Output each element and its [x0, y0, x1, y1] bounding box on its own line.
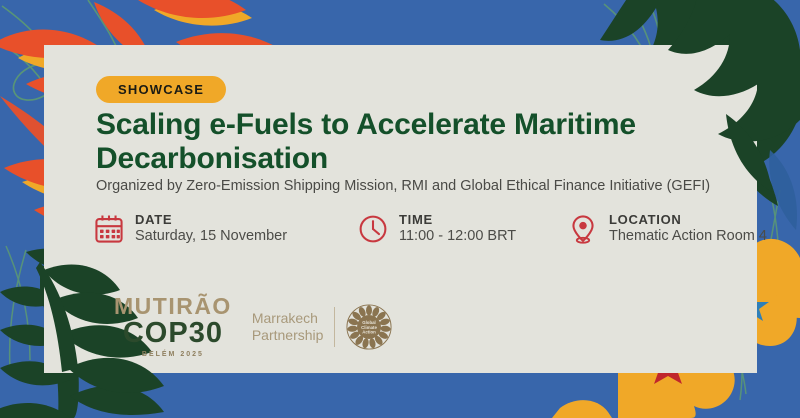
leaf-accent-top-right [769, 150, 797, 230]
marrakech-partnership-logo: Marrakech Partnership [252, 304, 393, 350]
logo-divider [334, 307, 335, 347]
poster-content: SHOWCASE Scaling e-Fuels to Accelerate M… [44, 45, 757, 373]
detail-date-value: Saturday, 15 November [135, 229, 287, 245]
detail-date: DATE Saturday, 15 November [94, 211, 287, 245]
marrakech-partnership-text: Marrakech Partnership [252, 310, 324, 343]
cop30-mutirao-text: MUTIRÃO [114, 295, 232, 318]
organizers-subtitle: Organized by Zero-Emission Shipping Miss… [96, 178, 756, 195]
calendar-icon [94, 213, 124, 245]
flower-bottom-edge [552, 400, 612, 418]
detail-time-label: TIME [399, 213, 516, 226]
detail-time-value: 11:00 - 12:00 BRT [399, 229, 516, 245]
detail-location-label: LOCATION [609, 213, 767, 226]
detail-date-label: DATE [135, 213, 287, 226]
detail-location: LOCATION Thematic Action Room 4 [568, 211, 767, 245]
page-title: Scaling e-Fuels to Accelerate Maritime D… [96, 108, 736, 176]
event-details-row: DATE Saturday, 15 November TIME 11:00 - … [94, 211, 754, 257]
global-climate-action-emblem: Global Climate Action [346, 304, 392, 350]
marrakech-line-1: Marrakech [252, 310, 324, 327]
location-pin-icon [568, 213, 598, 245]
cop30-belem-text: BELÉM 2025 [142, 351, 204, 358]
cop30-name-text: COP30 [123, 319, 223, 348]
cop30-logo: MUTIRÃO COP30 BELÉM 2025 [114, 295, 232, 358]
detail-time: TIME 11:00 - 12:00 BRT [358, 211, 516, 245]
marrakech-line-2: Partnership [252, 327, 324, 344]
logo-strip: MUTIRÃO COP30 BELÉM 2025 Marrakech Partn… [114, 295, 392, 358]
gca-line-3: Action [363, 329, 377, 334]
vine-lines-bottom-left [6, 246, 30, 368]
detail-location-value: Thematic Action Room 4 [609, 229, 767, 245]
showcase-badge: SHOWCASE [96, 76, 226, 103]
event-poster: SHOWCASE Scaling e-Fuels to Accelerate M… [0, 0, 800, 418]
clock-icon [358, 213, 388, 245]
